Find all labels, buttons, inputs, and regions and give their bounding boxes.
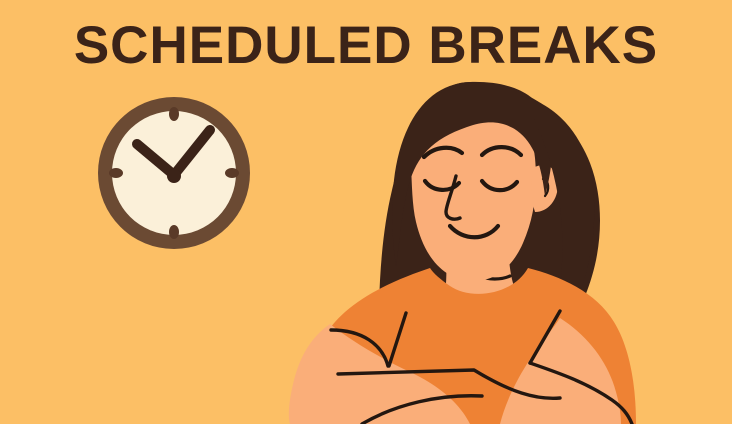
poster-canvas: SCHEDULED BREAKS xyxy=(0,0,732,424)
page-title: SCHEDULED BREAKS xyxy=(0,16,732,76)
clock-marker-6 xyxy=(169,225,179,239)
clock-marker-3 xyxy=(225,168,239,178)
clock-marker-12 xyxy=(169,107,179,121)
clock-center-pin xyxy=(167,169,181,183)
wall-clock xyxy=(98,97,250,249)
clock-marker-9 xyxy=(109,168,123,178)
